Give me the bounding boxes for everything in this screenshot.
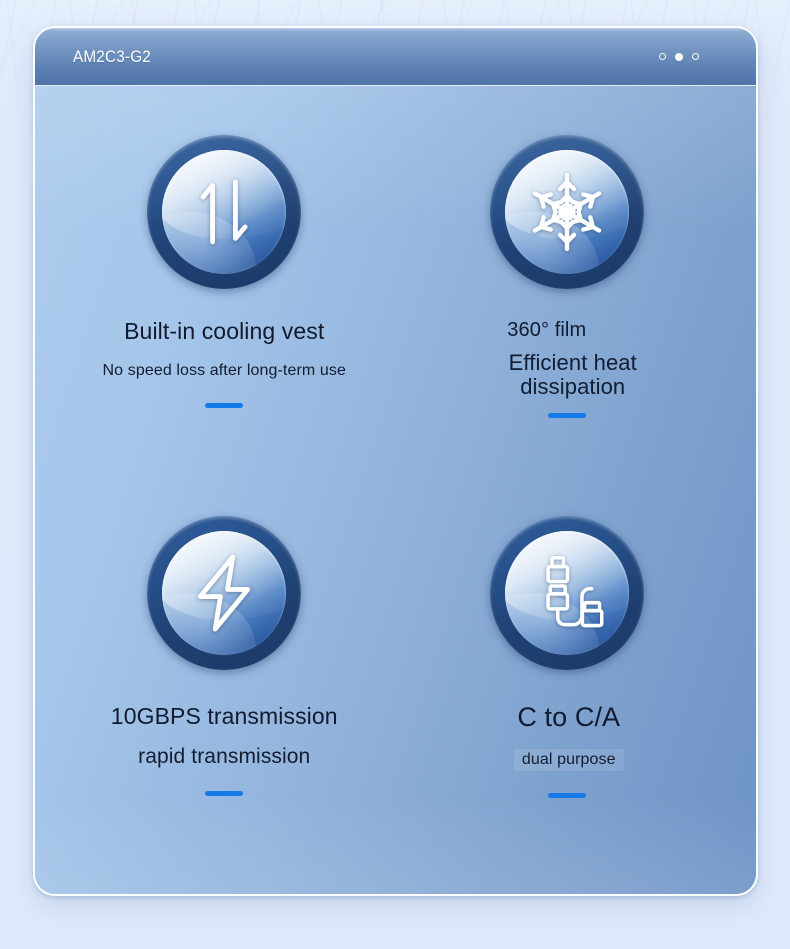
card-text: Built-in cooling vest No speed loss afte…	[53, 300, 396, 408]
feature-card-ctoc[interactable]: C to C/A dual purpose	[396, 497, 739, 868]
feature-card-film[interactable]: 360° film Efficient heat dissipation	[396, 126, 739, 497]
feature-subtitle: Efficient heat dissipation	[478, 351, 668, 399]
status-dot-center	[675, 53, 683, 61]
icon-orb-speed[interactable]	[136, 505, 312, 681]
accent-bar	[548, 413, 586, 418]
status-dot-right	[692, 53, 699, 60]
feature-subtitle: rapid transmission	[138, 745, 310, 769]
lightning-bolt-icon	[180, 549, 268, 637]
feature-title: 360° film	[507, 319, 586, 342]
feature-title: 10GBPS transmission	[111, 703, 338, 730]
panel-body: Built-in cooling vest No speed loss afte…	[35, 86, 756, 894]
feature-grid: Built-in cooling vest No speed loss afte…	[35, 86, 756, 894]
icon-orb-ctoc[interactable]	[479, 505, 655, 681]
device-title: AM2C3-G2	[73, 47, 151, 67]
card-text: 10GBPS transmission rapid transmission	[53, 681, 396, 796]
accent-bar	[548, 793, 586, 798]
status-dot-group	[659, 53, 734, 61]
accent-bar	[205, 791, 243, 796]
accent-bar	[205, 403, 243, 408]
transfer-arrows-icon	[180, 168, 268, 256]
card-text: 360° film Efficient heat dissipation	[396, 300, 739, 418]
feature-card-cooling[interactable]: Built-in cooling vest No speed loss afte…	[53, 126, 396, 497]
feature-title: Built-in cooling vest	[124, 318, 324, 345]
feature-title: C to C/A	[517, 702, 620, 733]
usb-cable-icon	[523, 549, 611, 637]
card-text: C to C/A dual purpose	[396, 681, 739, 798]
icon-orb-cooling[interactable]	[136, 124, 312, 300]
window-titlebar: AM2C3-G2	[35, 28, 756, 86]
snowflake-icon	[523, 168, 611, 256]
feature-card-speed[interactable]: 10GBPS transmission rapid transmission	[53, 497, 396, 868]
feature-subtitle: No speed loss after long-term use	[103, 362, 346, 380]
device-panel: AM2C3-G2 Built-	[33, 26, 758, 896]
feature-subtitle: dual purpose	[514, 749, 624, 771]
icon-orb-film[interactable]	[479, 124, 655, 300]
status-dot-left	[659, 53, 666, 60]
